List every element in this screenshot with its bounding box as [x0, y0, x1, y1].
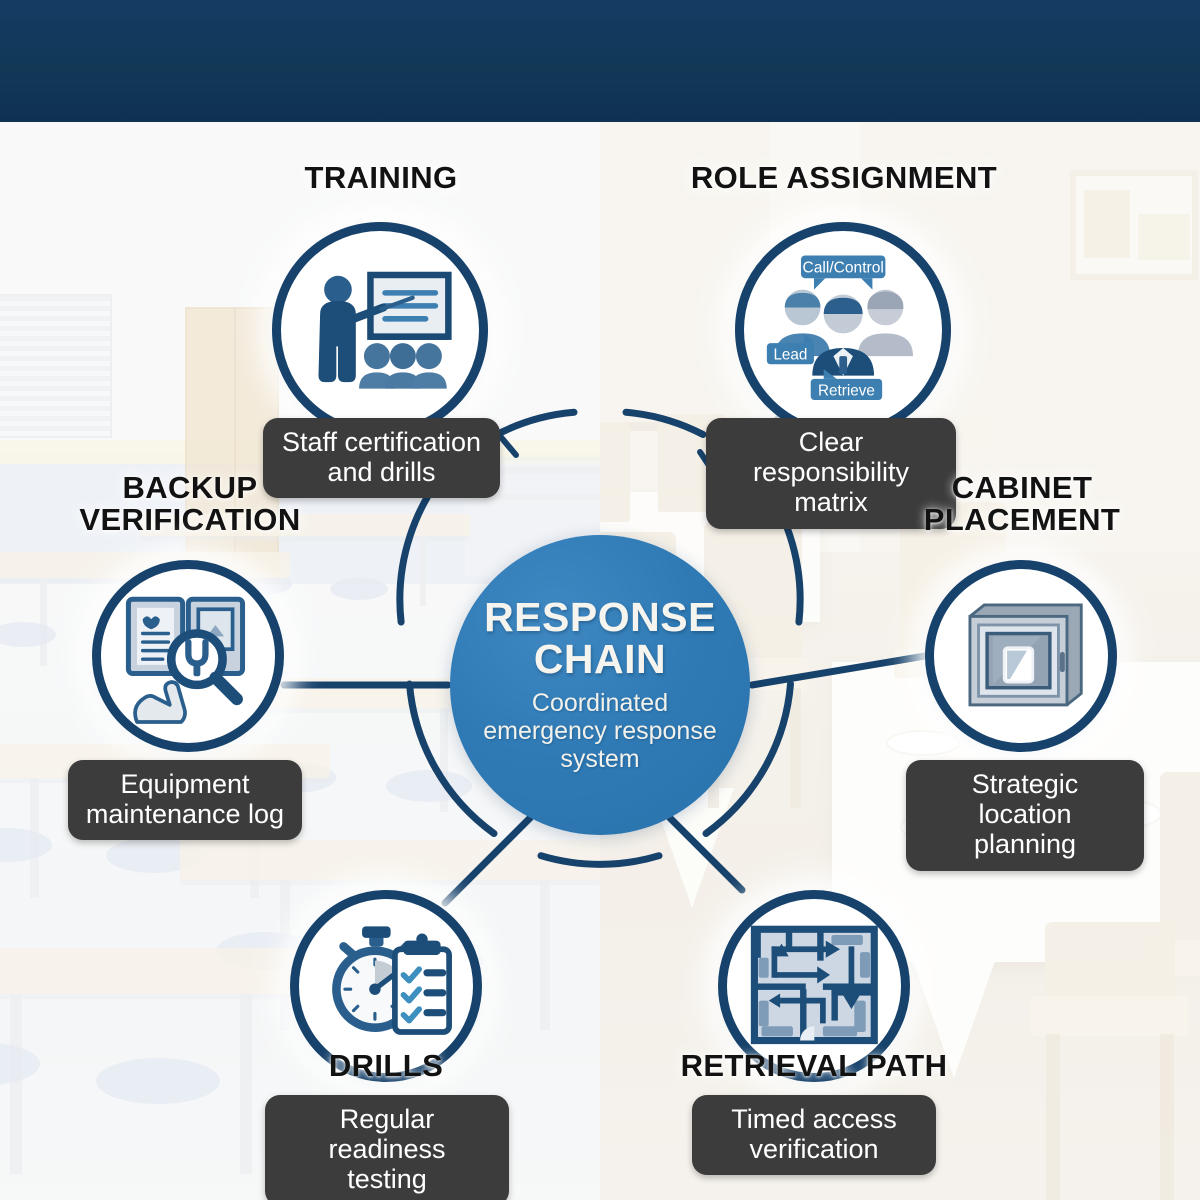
spoke-retrieval: [670, 818, 742, 890]
node-role-label: ROLE ASSIGNMENT: [670, 162, 1018, 194]
role-tag-retrieve: Retrieve: [818, 382, 875, 399]
hub-title-line1: RESPONSE: [484, 594, 716, 640]
node-retrieval-caption: Timed access verification: [692, 1095, 936, 1175]
node-backup-caption: Equipment maintenance log: [68, 760, 302, 840]
node-backup-label: BACKUP VERIFICATION: [55, 472, 325, 535]
ring-arc-top-right: [626, 412, 703, 434]
node-drills-label: DRILLS: [296, 1050, 476, 1082]
ring-arc-bottom: [541, 856, 659, 865]
aed-wall-cabinet-icon: [950, 585, 1093, 728]
hub-response-chain[interactable]: RESPONSE CHAIN Coordinated emergency res…: [450, 535, 750, 835]
hub-subtitle: Coordinated emergency response system: [475, 689, 725, 773]
node-cabinet-label: CABINET PLACEMENT: [898, 472, 1146, 535]
header-bar: [0, 0, 1200, 122]
node-training-circle[interactable]: [272, 222, 488, 438]
ring-arc-top-left: [497, 412, 574, 434]
stopwatch-clipboard-icon: [315, 915, 458, 1058]
node-cabinet-caption: Strategic location planning: [906, 760, 1144, 871]
instructor-presentation-icon: [299, 249, 461, 411]
node-cabinet-circle[interactable]: [925, 560, 1117, 752]
hub-title: RESPONSE CHAIN: [484, 597, 716, 681]
floorplan-route-icon: [743, 915, 886, 1058]
node-drills-caption: Regular readiness testing: [265, 1095, 509, 1200]
checklist-magnifier-plug-icon: [117, 585, 260, 728]
hub-title-line2: CHAIN: [534, 636, 666, 682]
team-roles-icon: Call/Control Lead Retrieve: [762, 249, 924, 411]
node-retrieval-label: RETRIEVAL PATH: [668, 1050, 960, 1082]
node-backup-circle[interactable]: [92, 560, 284, 752]
role-tag-call-control: Call/Control: [802, 260, 883, 277]
spoke-cabinet: [752, 656, 925, 685]
node-training-label: TRAINING: [236, 162, 526, 194]
role-tag-lead: Lead: [773, 347, 807, 364]
tail-training: [500, 436, 516, 455]
node-role-circle[interactable]: Call/Control Lead Retrieve: [735, 222, 951, 438]
infographic-canvas: RESPONSE CHAIN Coordinated emergency res…: [0, 0, 1200, 1200]
